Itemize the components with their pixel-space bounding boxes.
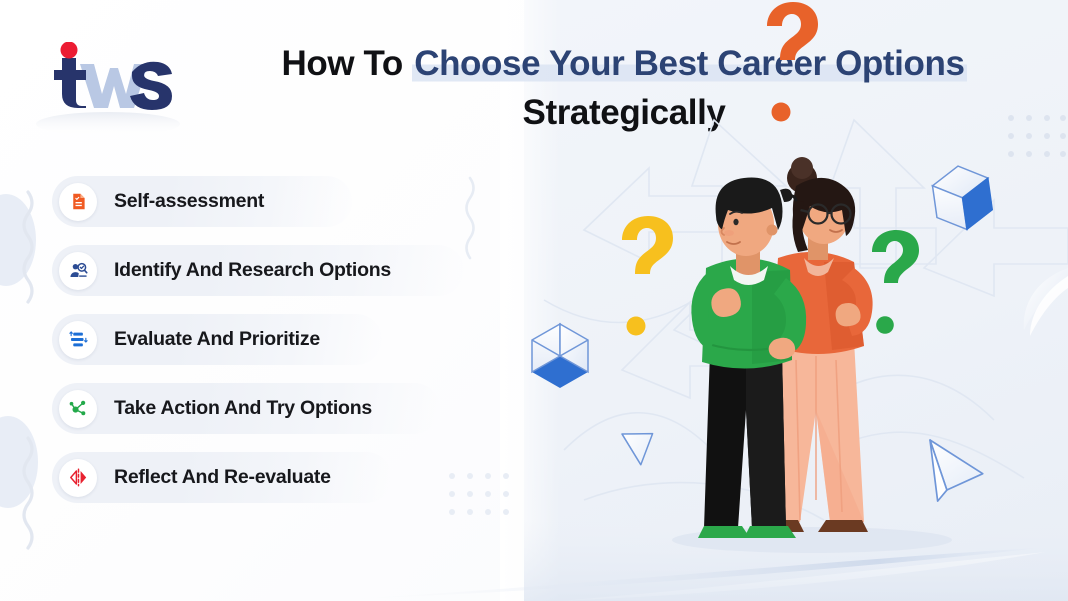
step-label: Identify And Research Options	[114, 259, 391, 282]
logo-shadow	[36, 112, 180, 136]
sort-priority-icon	[59, 321, 97, 359]
squiggle-left-lower	[24, 438, 32, 548]
step-item-self-assessment[interactable]: Self-assessment	[52, 176, 352, 227]
man-shoe-right	[744, 526, 796, 538]
step-label: Evaluate And Prioritize	[114, 328, 320, 351]
poster-canvas: How To Choose Your Best Career Options S…	[0, 0, 1068, 601]
man-shoe-left	[698, 526, 750, 538]
tws-logo[interactable]	[40, 42, 180, 114]
woman-hand	[836, 303, 861, 326]
document-checklist-icon	[59, 183, 97, 221]
title-plain: How To	[281, 44, 412, 83]
person-search-icon	[59, 252, 97, 290]
floor-fade	[524, 520, 1068, 601]
cube-blue-left	[532, 324, 588, 388]
mirror-reflect-icon	[59, 459, 97, 497]
step-label: Reflect And Re-evaluate	[114, 466, 331, 489]
woman-shoe-right	[818, 520, 868, 532]
step-item-evaluate-prioritize[interactable]: Evaluate And Prioritize	[52, 314, 382, 365]
paper-plane-small-left	[622, 428, 658, 467]
step-item-take-action[interactable]: Take Action And Try Options	[52, 383, 440, 434]
career-steps-list: Self-assessment Identify And Research Op…	[52, 176, 464, 503]
step-item-identify-research[interactable]: Identify And Research Options	[52, 245, 464, 296]
question-mark-orange	[767, 2, 818, 122]
step-label: Self-assessment	[114, 190, 264, 213]
step-item-reflect-reevaluate[interactable]: Reflect And Re-evaluate	[52, 452, 392, 503]
cube-blue-top-right	[930, 162, 994, 233]
squiggle-left-upper	[24, 192, 32, 302]
blob-left-edge-upper	[0, 194, 36, 286]
man-eye	[733, 219, 738, 225]
two-people-thinking-career-choices	[524, 0, 1068, 601]
step-label: Take Action And Try Options	[114, 397, 372, 420]
logo-red-dot	[61, 42, 78, 59]
man-ear	[767, 225, 778, 236]
squiggle-middle-divider	[467, 178, 474, 258]
blob-left-edge-lower	[0, 416, 38, 508]
question-mark-yellow	[622, 216, 673, 336]
network-nodes-icon	[59, 390, 97, 428]
paper-plane-large-right	[924, 440, 986, 506]
